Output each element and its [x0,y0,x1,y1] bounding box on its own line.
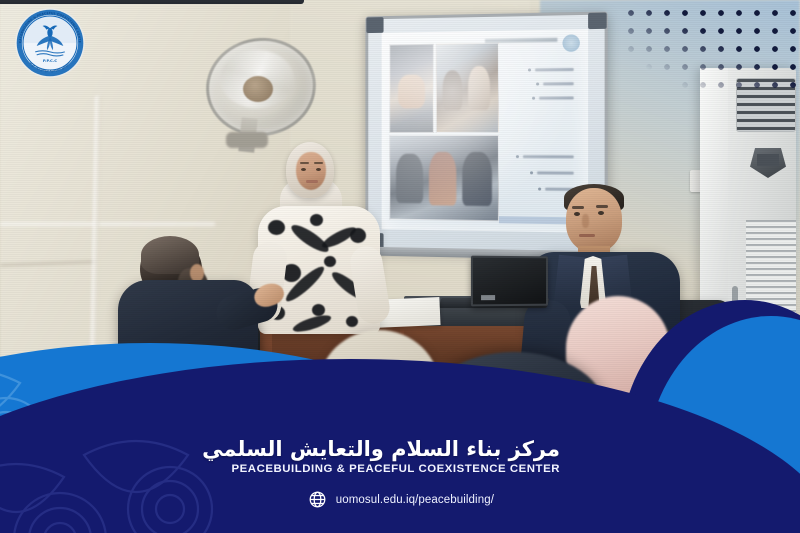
chair-seat-pad [238,384,282,412]
eye [574,212,580,216]
mouth [306,180,318,183]
eyebrow [300,162,309,164]
ac-side-panel [700,68,728,336]
mouth [579,234,595,237]
desk-top-edge [0,0,304,4]
audience-left-shoulders [0,420,110,480]
fan-hub [243,76,273,102]
slide-glare [382,29,588,233]
seated-man-right-head [566,188,622,252]
ac-display-screen [757,154,779,166]
board-corner [366,17,383,33]
board-corner [588,12,607,29]
eyebrow [596,205,608,208]
event-banner: P.P.C.C PEACEBUILDING & PEACEFUL COEXIST… [0,0,800,533]
wall-fan [196,32,314,134]
eyebrow [572,206,584,209]
laptop-screen [471,256,548,307]
air-conditioner [700,68,796,336]
dot-grid-pattern [616,0,800,96]
eye [316,168,321,171]
chair-leg [131,384,140,430]
wall-panel-edge [0,222,215,226]
eye [301,168,306,171]
nose [582,214,589,228]
fan-bracket [226,132,268,148]
peacebuilding-center-logo: P.P.C.C PEACEBUILDING & PEACEFUL COEXIST… [13,6,87,80]
audience-navy-hijab [418,352,608,482]
eyebrow [314,162,323,164]
presenter-face [296,152,326,190]
laptop-logo [481,295,495,300]
logo-abbr: P.P.C.C [43,58,57,63]
projector-slide [382,29,588,233]
eye [598,211,604,215]
